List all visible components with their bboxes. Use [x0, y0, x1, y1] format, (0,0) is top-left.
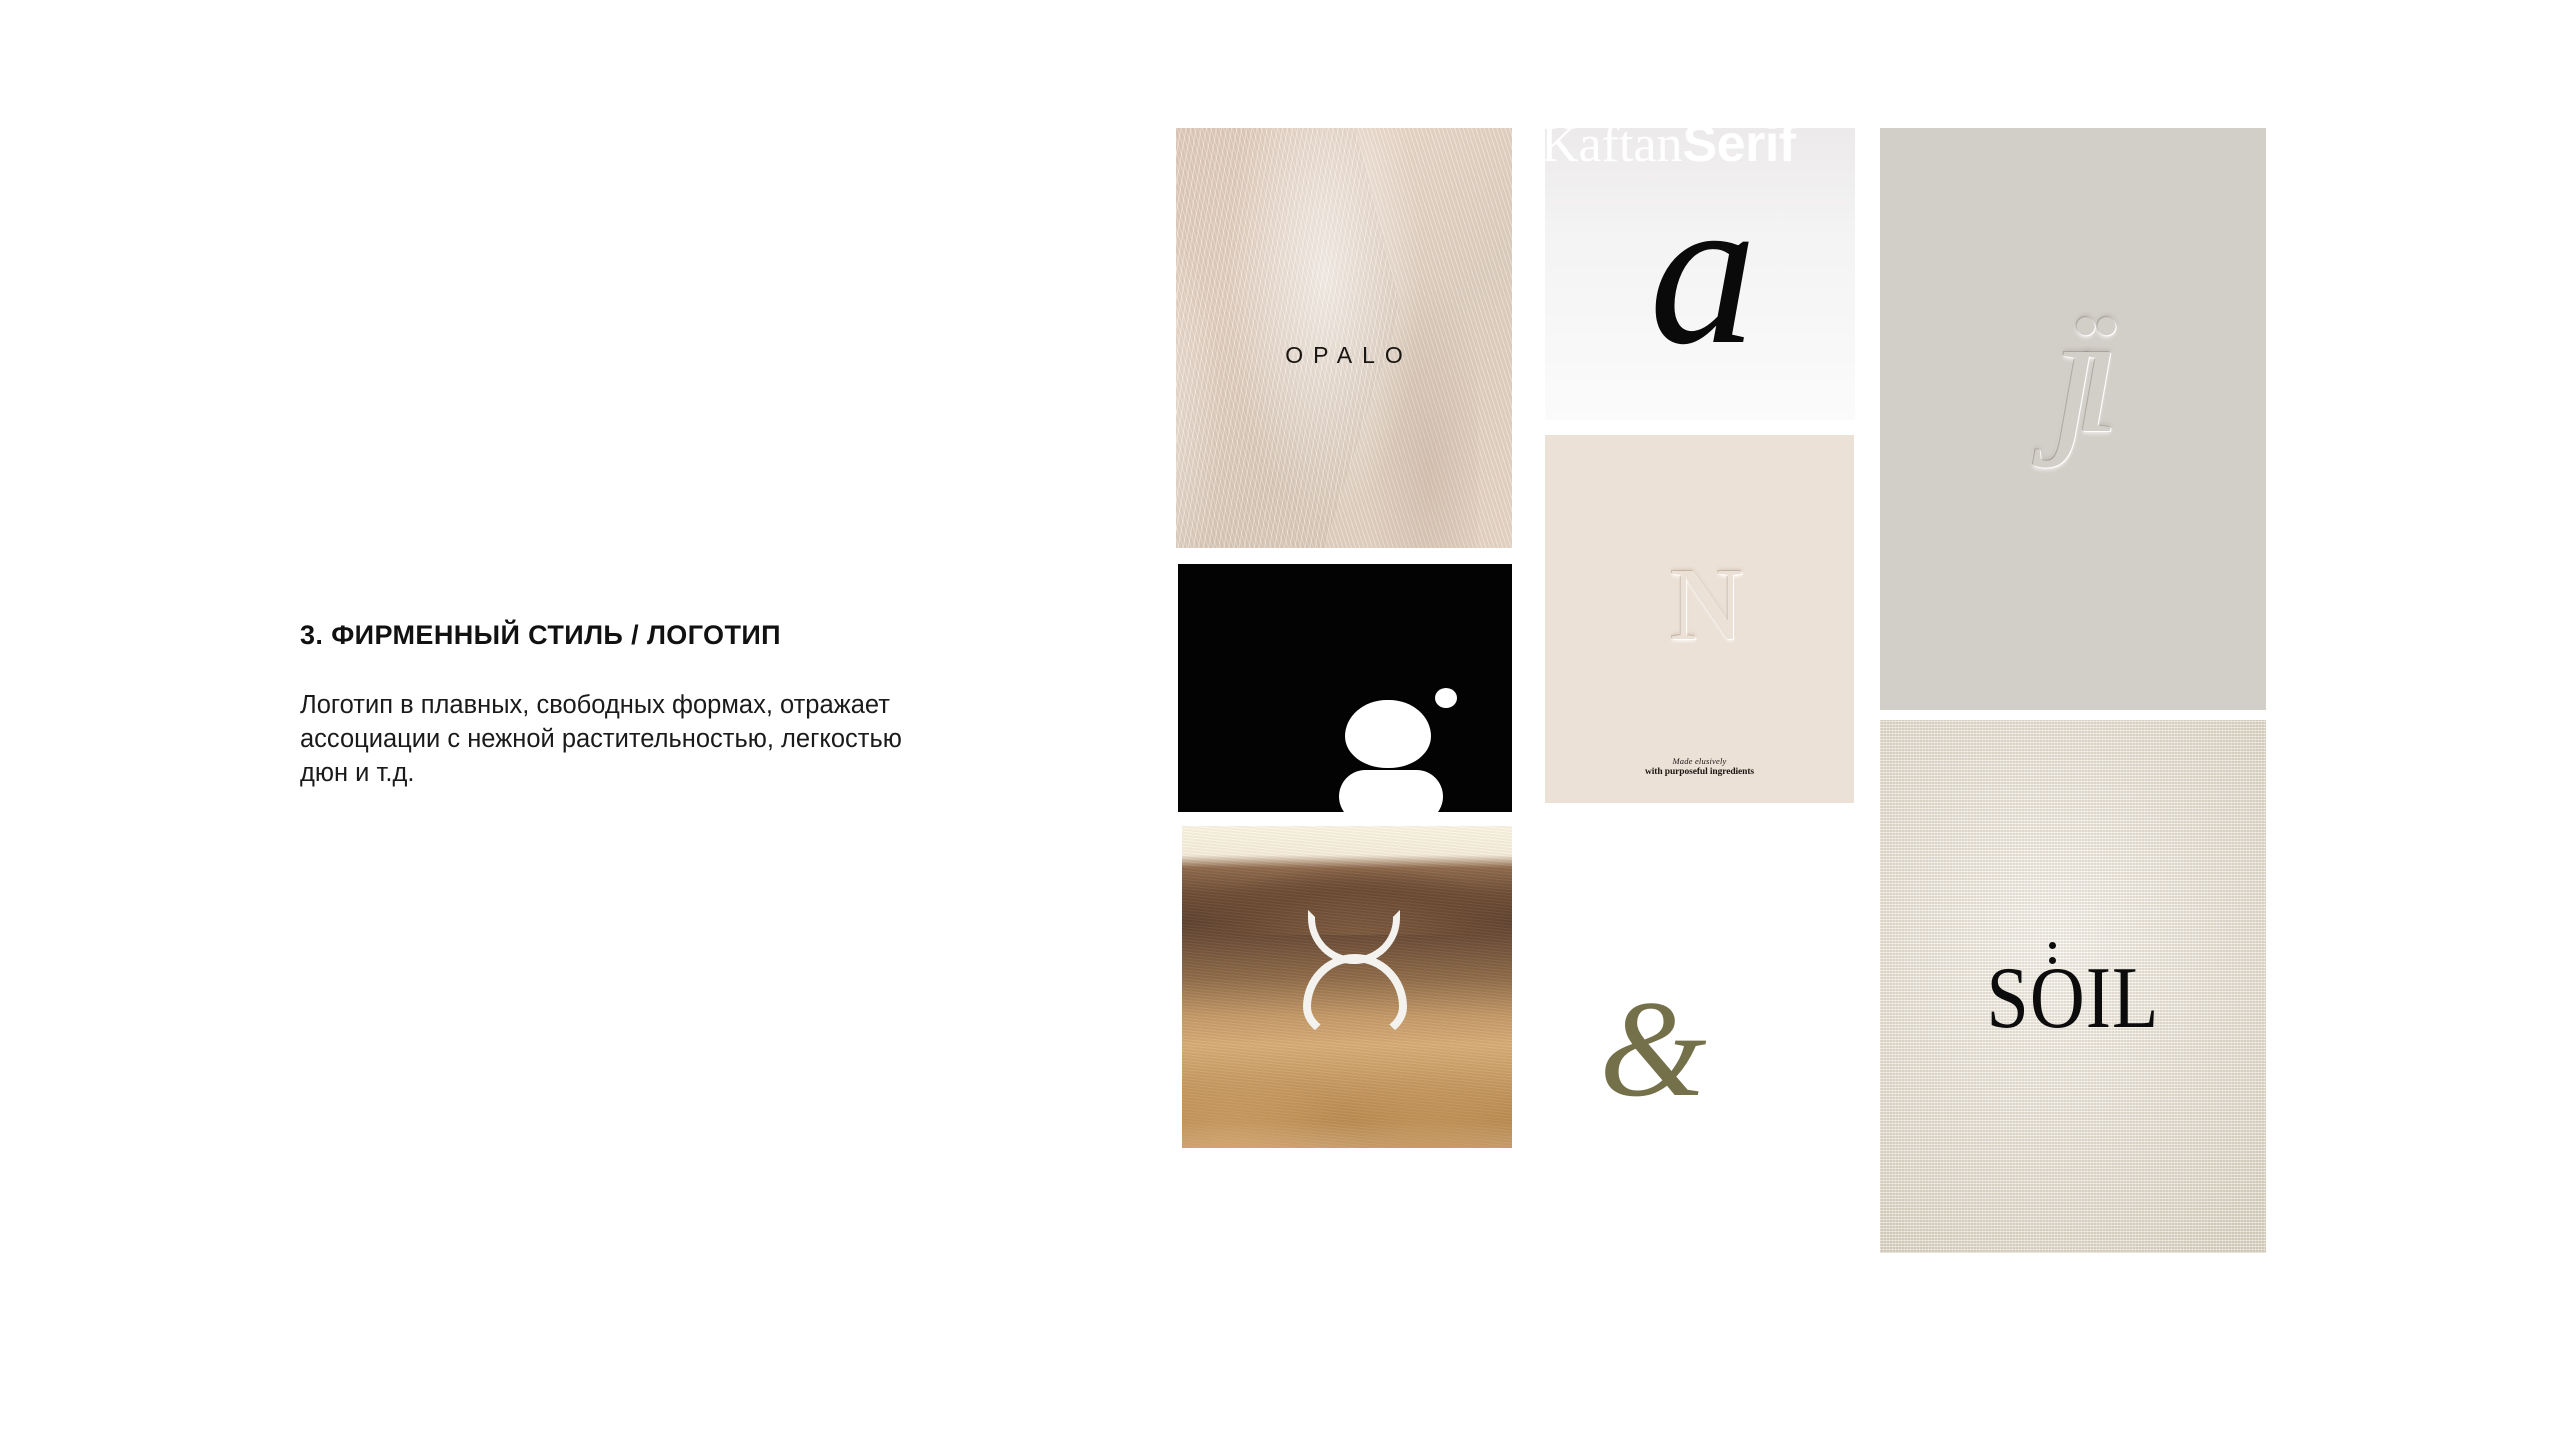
- open-o-arc: [1303, 954, 1407, 1042]
- kaftan-specimen-glyph: a: [1545, 162, 1855, 377]
- gray-monogram-panel[interactable]: ji: [1880, 128, 2266, 710]
- ampersand-icon: &: [1593, 988, 1713, 1128]
- j-monogram-icon: ji: [1880, 288, 2266, 460]
- soil-wordmark: SOIL: [1880, 954, 2266, 1042]
- dune-photo-panel[interactable]: [1182, 826, 1512, 1148]
- beige-monogram-panel[interactable]: N Made elusively with purposeful ingredi…: [1545, 435, 1854, 803]
- n-monogram-icon: N: [1545, 553, 1854, 657]
- slide-text-block: 3. ФИРМЕННЫЙ СТИЛЬ / ЛОГОТИП Логотип в п…: [300, 620, 960, 791]
- dune-monogram-icon: [1299, 910, 1395, 1026]
- moodboard-grid: OPALO KaftanSerif a N Made elusively wit…: [1176, 128, 2266, 1268]
- g-dot-shape: [1435, 688, 1457, 708]
- g-bowl-shape: [1345, 700, 1431, 768]
- page-title: 3. ФИРМЕННЫЙ СТИЛЬ / ЛОГОТИП: [300, 620, 960, 651]
- opalo-plaster-panel[interactable]: OPALO: [1176, 128, 1512, 548]
- beige-caption-line2: with purposeful ingredients: [1545, 767, 1854, 777]
- g-tail-shape: [1339, 770, 1443, 812]
- soil-linen-panel[interactable]: SOIL: [1880, 720, 2266, 1253]
- beige-caption: Made elusively with purposeful ingredien…: [1545, 756, 1854, 777]
- section-description: Логотип в плавных, свободных формах, отр…: [300, 689, 940, 791]
- kaftan-serif-panel[interactable]: KaftanSerif a: [1545, 128, 1855, 420]
- ampersand-panel[interactable]: &: [1593, 988, 1713, 1128]
- plaster-highlight: [1176, 128, 1478, 548]
- beige-caption-line1: Made elusively: [1545, 756, 1854, 766]
- black-g-logo-panel[interactable]: [1178, 564, 1512, 812]
- opalo-wordmark: OPALO: [1176, 342, 1512, 369]
